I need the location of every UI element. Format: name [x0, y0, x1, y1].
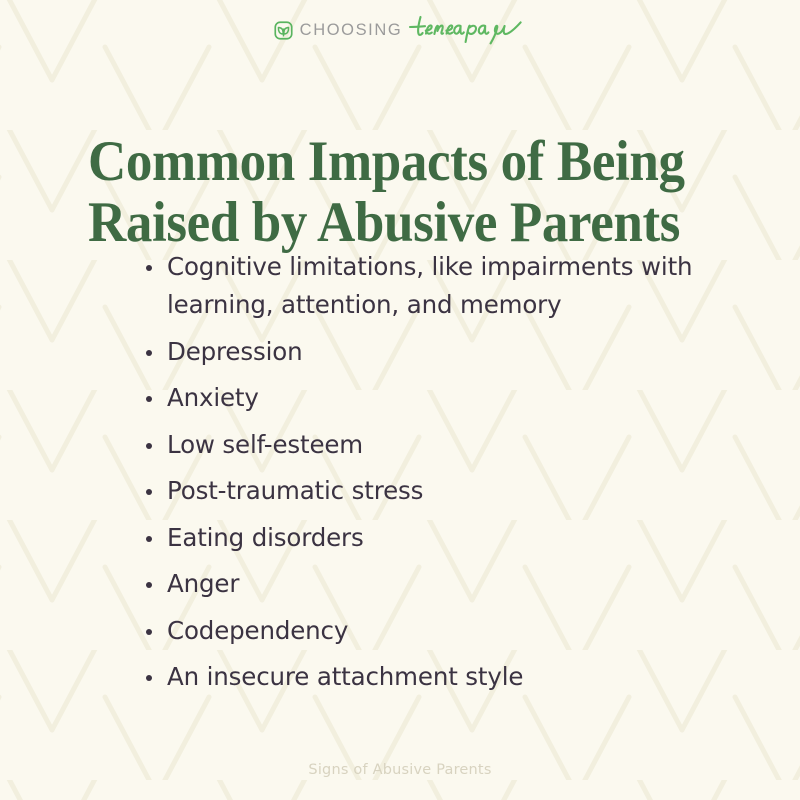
list-item-label: Cognitive limitations, like impairments …: [167, 248, 740, 324]
list-item-label: An insecure attachment style: [167, 658, 740, 696]
list-item: Low self-esteem: [140, 426, 740, 464]
bullet-icon: [146, 396, 152, 402]
logo-word-therapy: [408, 12, 526, 46]
bullet-icon: [146, 443, 152, 449]
bullet-icon: [146, 350, 152, 356]
list-item-label: Low self-esteem: [167, 426, 740, 464]
list-item: Post-traumatic stress: [140, 472, 740, 510]
bullet-icon: [146, 489, 152, 495]
list-item-label: Anxiety: [167, 379, 740, 417]
logo-word-choosing: CHOOSING: [300, 22, 403, 39]
page-title: Common Impacts of Being Raised by Abusiv…: [88, 131, 702, 253]
brand-logo: CHOOSING: [0, 14, 800, 46]
list-item: Anxiety: [140, 379, 740, 417]
list-item-label: Post-traumatic stress: [167, 472, 740, 510]
list-item: An insecure attachment style: [140, 658, 740, 696]
list-item-label: Anger: [167, 565, 740, 603]
title-line-2: Raised by Abusive Parents: [88, 192, 702, 253]
list-item: Eating disorders: [140, 519, 740, 557]
bullet-icon: [146, 536, 152, 542]
impacts-list: Cognitive limitations, like impairments …: [140, 248, 740, 705]
bullet-icon: [146, 582, 152, 588]
list-item-label: Codependency: [167, 612, 740, 650]
title-line-1: Common Impacts of Being: [88, 131, 702, 192]
list-item-label: Depression: [167, 333, 740, 371]
bullet-icon: [146, 629, 152, 635]
footer-caption: Signs of Abusive Parents: [0, 762, 800, 778]
list-item: Anger: [140, 565, 740, 603]
bullet-icon: [146, 265, 152, 271]
bullet-icon: [146, 675, 152, 681]
list-item-label: Eating disorders: [167, 519, 740, 557]
infographic-poster: CHOOSING Common Impacts of Being Raised …: [0, 0, 800, 800]
list-item: Cognitive limitations, like impairments …: [140, 248, 740, 324]
list-item: Depression: [140, 333, 740, 371]
leaf-plant-icon: [274, 21, 293, 40]
list-item: Codependency: [140, 612, 740, 650]
